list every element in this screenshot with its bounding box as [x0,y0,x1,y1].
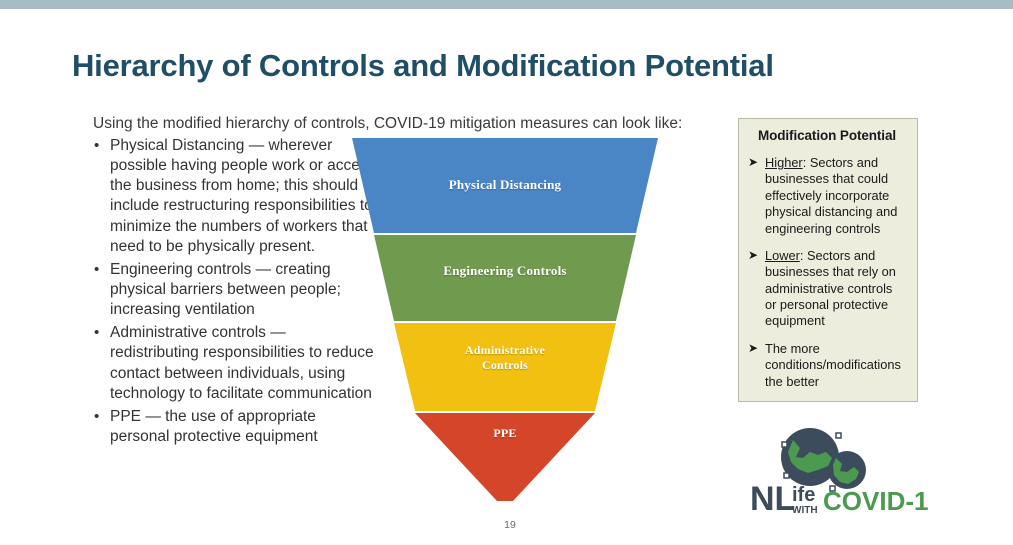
list-item-lead: Higher [765,155,803,170]
list-item: • Administrative controls — redistributi… [88,323,378,404]
slide-canvas: Hierarchy of Controls and Modification P… [0,0,1013,545]
intro-text: Using the modified hierarchy of controls… [93,114,733,133]
list-item-lead: Lower [765,248,800,263]
list-item-text: Administrative controls — redistributing… [110,324,374,401]
node-marker-icon [782,442,787,447]
logo-text-with: WITH [792,505,818,516]
nl-life-with-covid19-logo: NL ife WITH COVID-19 [748,424,928,519]
logo-svg: NL ife WITH COVID-19 [748,424,928,519]
list-item: • Engineering controls — creating physic… [88,260,378,320]
bullet-dot-icon: • [94,407,99,427]
mitigation-bullet-list: • Physical Distancing — wherever possibl… [88,136,378,450]
pyramid-segment-administrative-controls [394,323,616,411]
logo-text-nl: NL [750,480,795,518]
hierarchy-pyramid-diagram: Physical Distancing Engineering Controls… [340,138,670,508]
list-item: • PPE — the use of appropriate personal … [88,407,378,447]
page-number: 19 [480,519,540,531]
node-marker-icon [784,473,789,478]
logo-text-covid: COVID-19 [823,486,928,516]
list-item-text: Physical Distancing — wherever possible … [110,137,375,255]
modification-potential-title: Modification Potential [747,128,907,143]
pyramid-segment-physical-distancing [352,138,658,233]
page-title: Hierarchy of Controls and Modification P… [72,48,952,84]
top-accent-bar [0,0,1013,9]
list-item-text: Engineering controls — creating physical… [110,261,341,318]
pyramid-segment-engineering-controls [374,235,636,321]
list-item-text: The more conditions/modifications the be… [765,341,901,389]
arrow-bullet-icon: ➤ [748,155,758,171]
bullet-dot-icon: • [94,136,99,156]
list-item: ➤ Higher: Sectors and businesses that co… [747,155,907,237]
logo-text-ife: ife [792,484,815,506]
bullet-dot-icon: • [94,260,99,280]
list-item-text: PPE — the use of appropriate personal pr… [110,408,318,445]
bullet-dot-icon: • [94,323,99,343]
pyramid-segment-ppe [415,413,595,501]
pyramid-svg [340,138,670,508]
modification-potential-box: Modification Potential ➤ Higher: Sectors… [738,118,918,402]
list-item: ➤ The more conditions/modifications the … [747,341,907,390]
list-item: ➤ Lower: Sectors and businesses that rel… [747,248,907,330]
list-item: • Physical Distancing — wherever possibl… [88,136,378,257]
node-marker-icon [836,433,841,438]
arrow-bullet-icon: ➤ [748,341,758,357]
arrow-bullet-icon: ➤ [748,248,758,264]
